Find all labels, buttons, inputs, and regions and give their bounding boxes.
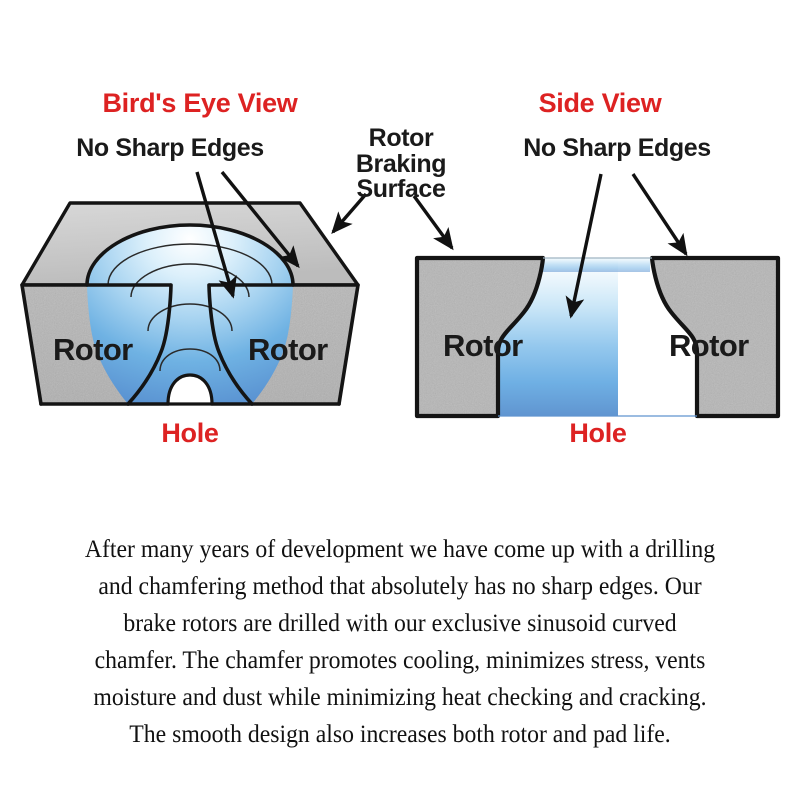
description-line-1: After many years of development we have … [35,530,764,567]
birds-eye-hole-label: Hole [130,418,250,449]
side-view-rotor-label-right: Rotor [669,328,749,364]
side-view-hole-label: Hole [538,418,658,449]
birds-eye-view-title: Bird's Eye View [40,88,360,119]
side-view-rotor-label-left: Rotor [443,328,523,364]
description-paragraph: After many years of development we have … [35,530,764,752]
rotor-braking-surface-label: Rotor Braking Surface [336,126,466,203]
description-line-6: The smooth design also increases both ro… [35,715,764,752]
description-line-3: brake rotors are drilled with our exclus… [35,604,764,641]
birds-eye-view-block [22,203,358,404]
side-view-no-sharp-edges-label: No Sharp Edges [467,136,767,162]
diagram-canvas: Bird's Eye View No Sharp Edges Rotor Bra… [0,0,800,800]
side-view-title: Side View [460,88,740,119]
rotor-braking-surface-line-2: Braking [336,152,466,178]
description-line-2: and chamfering method that absolutely ha… [35,567,764,604]
rotor-braking-surface-line-3: Surface [336,177,466,203]
birds-eye-no-sharp-edges-label: No Sharp Edges [20,136,320,162]
rotor-braking-surface-arrow-right [414,196,452,248]
birds-eye-rotor-label-left: Rotor [53,332,133,368]
side-no-sharp-edges-arrow-right [633,174,686,254]
rotor-braking-surface-line-1: Rotor [336,126,466,152]
description-line-5: moisture and dust while minimizing heat … [35,678,764,715]
description-line-4: chamfer. The chamfer promotes cooling, m… [35,641,764,678]
birds-eye-rotor-label-right: Rotor [248,332,328,368]
